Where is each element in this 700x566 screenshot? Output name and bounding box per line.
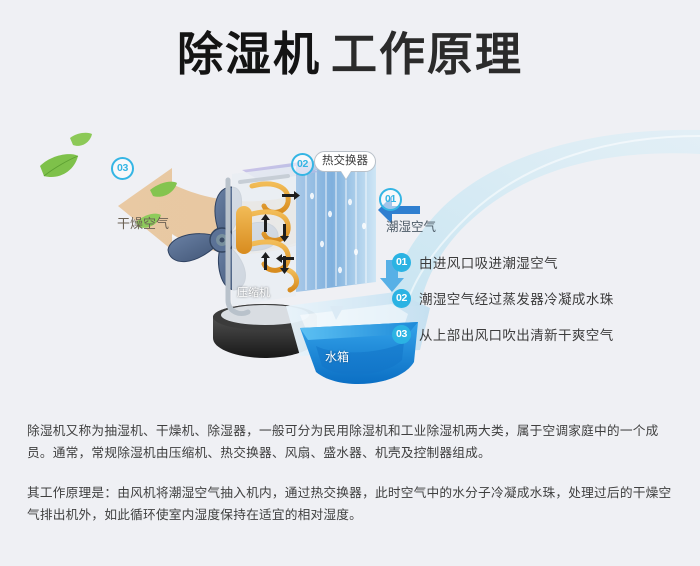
legend-item: 01 由进风口吸进潮湿空气	[392, 252, 682, 272]
description-paragraph-2: 其工作原理是：由风机将潮湿空气抽入机内，通过热交换器，此时空气中的水分子冷凝成水…	[27, 482, 677, 526]
page-title: 除湿机工作原理	[177, 28, 523, 81]
steps-legend: 01 由进风口吸进潮湿空气 02 潮湿空气经过蒸发器冷凝成水珠 03 从上部出风…	[392, 252, 682, 344]
legend-item: 03 从上部出风口吹出清新干爽空气	[392, 324, 682, 344]
legend-badge-02: 02	[392, 289, 411, 308]
description-block: 除湿机又称为抽湿机、干燥机、除湿器，一般可分为民用除湿机和工业除湿机两大类，属于…	[27, 420, 677, 526]
label-humid-air: 潮湿空气	[386, 216, 436, 235]
legend-text-03: 从上部出风口吹出清新干爽空气	[419, 324, 614, 344]
legend-text-01: 由进风口吸进潮湿空气	[419, 252, 558, 272]
label-compressor: 压缩机	[237, 284, 270, 300]
legend-text-02: 潮湿空气经过蒸发器冷凝成水珠	[419, 288, 614, 308]
page-title-container: 除湿机工作原理	[0, 28, 700, 81]
page-title-part2: 工作原理	[331, 28, 523, 80]
label-dry-air: 干燥空气	[117, 213, 169, 232]
diagram-badge-03: 03	[111, 157, 134, 180]
heat-exchanger-callout: 热交换器	[314, 151, 376, 172]
legend-badge-01: 01	[392, 253, 411, 272]
diagram-badge-01: 01	[379, 188, 402, 211]
diagram-badge-02: 02	[291, 153, 314, 176]
description-paragraph-1: 除湿机又称为抽湿机、干燥机、除湿器，一般可分为民用除湿机和工业除湿机两大类，属于…	[27, 420, 677, 464]
label-water-tank: 水箱	[325, 348, 349, 365]
legend-item: 02 潮湿空气经过蒸发器冷凝成水珠	[392, 288, 682, 308]
page-title-part1: 除湿机	[177, 28, 321, 80]
legend-badge-03: 03	[392, 325, 411, 344]
